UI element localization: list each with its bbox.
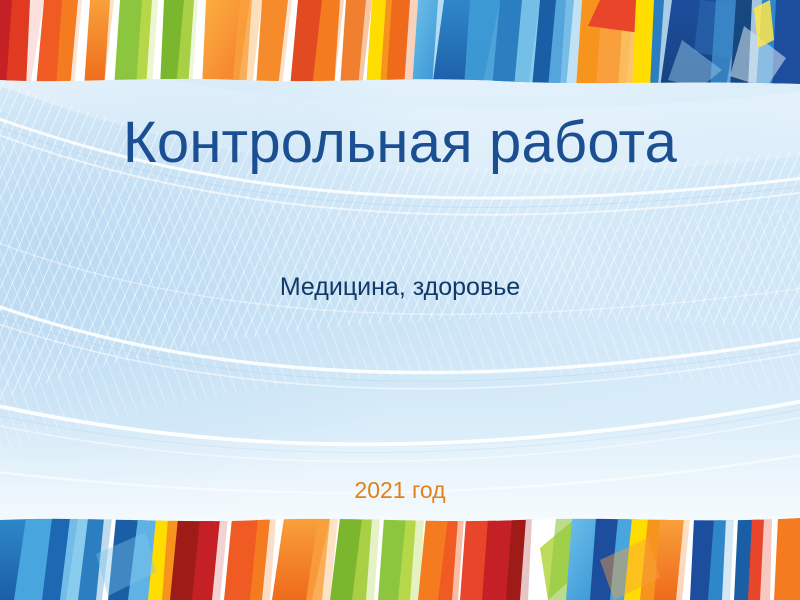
slide-subtitle: Медицина, здоровье (0, 272, 800, 302)
slide-year: 2021 год (0, 477, 800, 505)
title-slide: Контрольная работа Медицина, здоровье 20… (0, 0, 800, 600)
slide-title: Контрольная работа (0, 112, 800, 175)
